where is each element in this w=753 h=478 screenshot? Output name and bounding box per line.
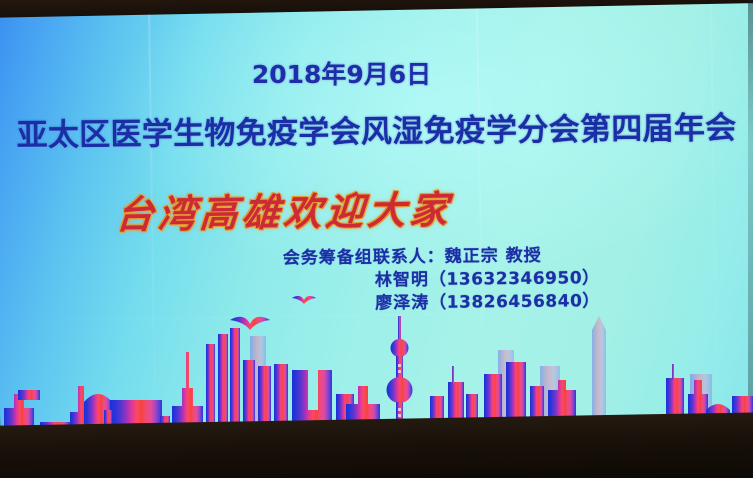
contact-name: 廖泽涛 [375, 293, 429, 314]
contact-header-line: 会务筹备组联系人：魏正宗 教授 [283, 246, 542, 269]
contact-block: 会务筹备组联系人：魏正宗 教授 林智明（13632346950） 廖泽涛（138… [283, 243, 753, 317]
contact-name: 林智明 [375, 270, 429, 291]
contact-phone: （13826456840） [429, 291, 600, 313]
slide-text-layer: 2018年9月6日 亚太区医学生物免疫学会风湿免疫学分会第四届年会 台湾高雄欢迎… [0, 0, 753, 478]
contact-row: 廖泽涛（13826456840） [283, 289, 753, 317]
event-date: 2018年9月6日 [0, 55, 753, 91]
screenshot-root: 2018年9月6日 亚太区医学生物免疫学会风湿免疫学分会第四届年会 台湾高雄欢迎… [0, 0, 753, 478]
welcome-calligraphy: 台湾高雄欢迎大家 [0, 174, 753, 241]
event-main-title: 亚太区医学生物免疫学会风湿免疫学分会第四届年会 [0, 102, 753, 155]
contact-phone: （13632346950） [429, 268, 600, 290]
